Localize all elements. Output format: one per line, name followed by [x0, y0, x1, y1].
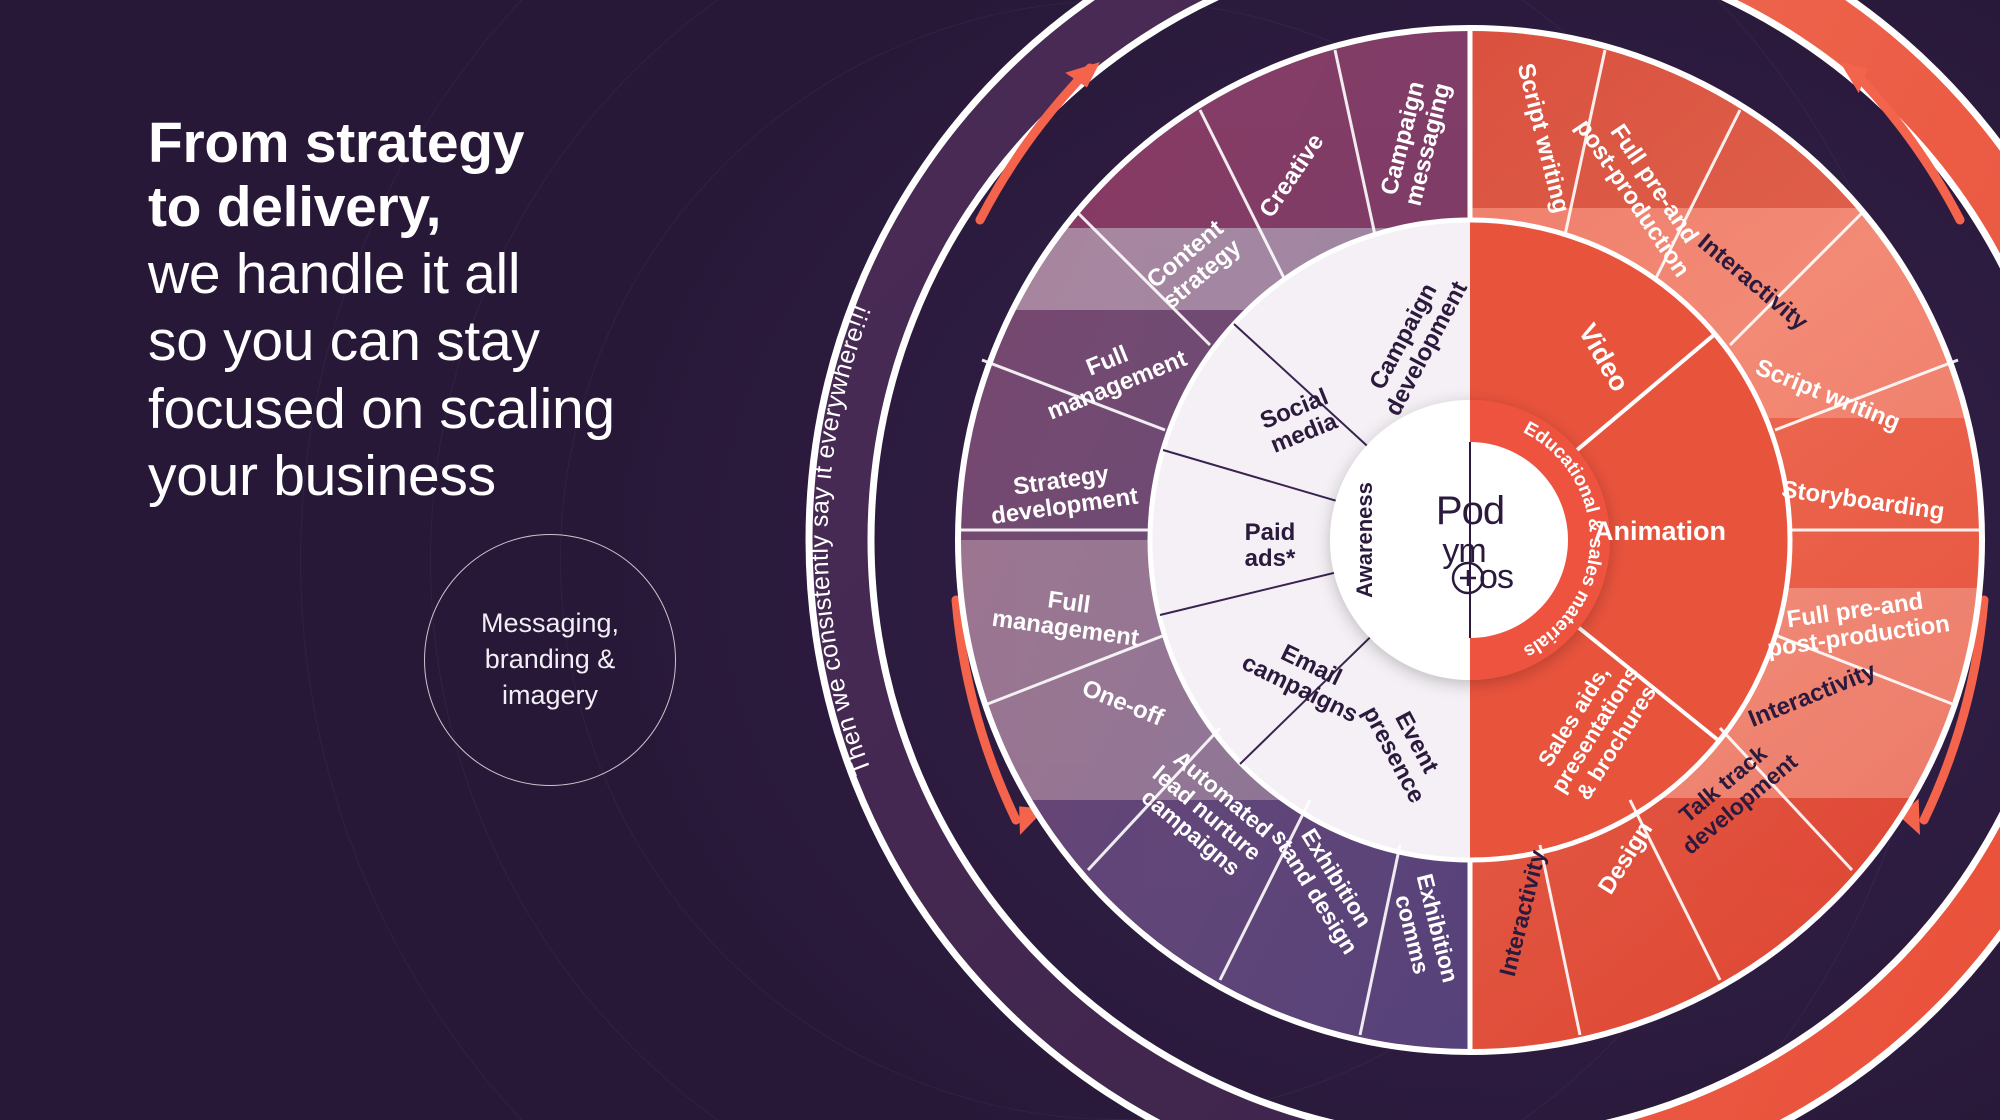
services-wheel: Then we consistently say it everywhere!!…	[770, 0, 2000, 1120]
wheel-svg: Then we consistently say it everywhere!!…	[770, 0, 2000, 1120]
messaging-line-3: imagery	[481, 678, 619, 714]
messaging-line-2: branding &	[481, 642, 619, 678]
svg-text:Pod: Pod	[1436, 489, 1504, 533]
headline-light-line-3: focused on scaling	[148, 377, 708, 443]
headline-bold-line-2: to delivery,	[148, 176, 708, 240]
headline-light-line-2: so you can stay	[148, 309, 708, 375]
headline-light-line-4: your business	[148, 444, 708, 510]
headline-block: From strategy to delivery, we handle it …	[148, 112, 708, 510]
messaging-line-1: Messaging,	[481, 606, 619, 642]
inner-ring-labels: Awareness	[1352, 482, 1377, 598]
mid-label-paid-ads: Paidads*	[1245, 519, 1296, 572]
inner-label-awareness: Awareness	[1352, 482, 1377, 598]
mid-label-animation: Animation	[1594, 516, 1726, 546]
poster-canvas: From strategy to delivery, we handle it …	[0, 0, 2000, 1120]
headline-bold-line-1: From strategy	[148, 112, 708, 176]
messaging-branding-circle: Messaging, branding & imagery	[424, 534, 676, 786]
headline-light-line-1: we handle it all	[148, 242, 708, 308]
